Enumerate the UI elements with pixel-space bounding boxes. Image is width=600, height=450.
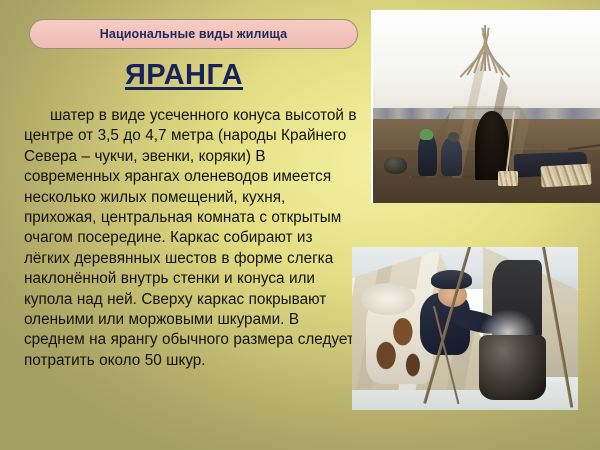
fur-hat bbox=[431, 270, 472, 290]
page-title-text: ЯРАНГА bbox=[125, 59, 243, 92]
firewood-pile bbox=[540, 164, 591, 188]
green-hat bbox=[420, 129, 434, 140]
yaranga-cooking-photo bbox=[352, 247, 578, 410]
person-figure bbox=[441, 138, 461, 176]
person-figure bbox=[418, 134, 436, 176]
slide-canvas: Национальные виды жилища ЯРАНГА шатер в … bbox=[0, 0, 600, 450]
firewood-pile bbox=[498, 171, 518, 186]
cooking-cauldron bbox=[479, 335, 547, 400]
yaranga-cooking-illustration bbox=[352, 247, 578, 410]
person-figure bbox=[448, 132, 459, 142]
yaranga-exterior-photo bbox=[371, 10, 600, 203]
tent-entrance bbox=[475, 111, 509, 180]
yaranga-exterior-illustration bbox=[373, 12, 600, 203]
banner-label: Национальные виды жилища bbox=[100, 27, 287, 41]
page-title: ЯРАНГА bbox=[0, 59, 368, 92]
body-paragraph: шатер в виде усеченного конуса высотой в… bbox=[24, 106, 358, 371]
cooking-pot bbox=[384, 157, 407, 174]
section-banner: Национальные виды жилища bbox=[29, 19, 358, 49]
